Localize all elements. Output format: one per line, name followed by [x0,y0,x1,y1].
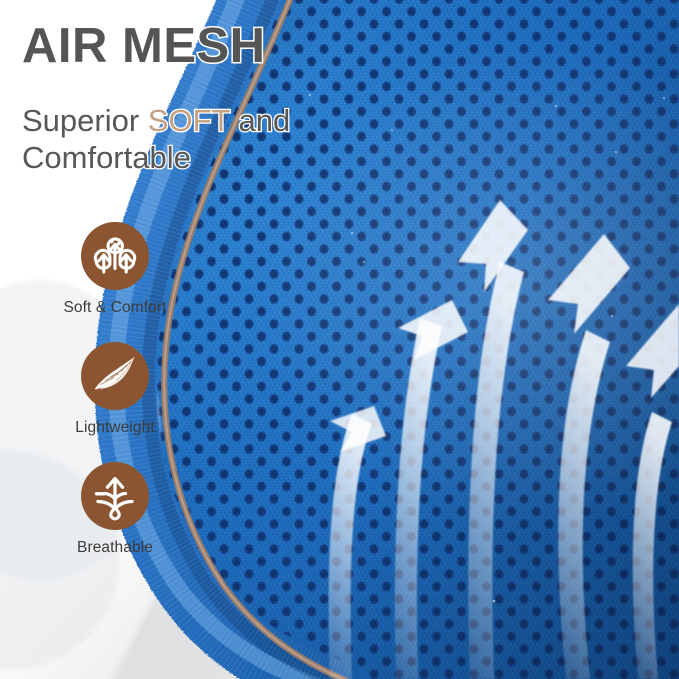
feature-label: Soft & Comfort [0,299,230,317]
feature-icon-disc [81,222,149,290]
title-divider [22,90,266,94]
airflow-arrow-3 [458,200,528,679]
feature-icon-disc [81,462,149,530]
feature-item-lightweight: Lightweight [0,342,230,437]
feather-icon [81,342,149,410]
subtitle-suffix: and [230,103,290,138]
subtitle-highlight: SOFT [148,103,230,138]
feature-item-breathable: Breathable [0,462,230,557]
page-title: AIR MESH [22,22,266,71]
air-flow-arrow-icon [81,462,149,530]
subtitle-line-2: Comfortable [22,141,191,174]
feature-item-soft-comfort: Soft & Comfort [0,222,230,317]
product-feature-banner: AIR MESH Superior SOFT and Comfortable [0,0,679,679]
airflow-arrow-2 [395,300,468,679]
airflow-arrow-4 [548,234,630,679]
airflow-arrow-5 [626,304,679,679]
airflow-arrows-group [0,0,679,679]
feature-icon-disc [81,342,149,410]
feature-label: Lightweight [0,419,230,437]
cotton-boll-icon [81,222,149,290]
subtitle-prefix: Superior [22,103,148,138]
feature-label: Breathable [0,539,230,557]
subtitle-line-1: Superior SOFT and [22,104,290,137]
airflow-arrow-1 [329,406,386,679]
